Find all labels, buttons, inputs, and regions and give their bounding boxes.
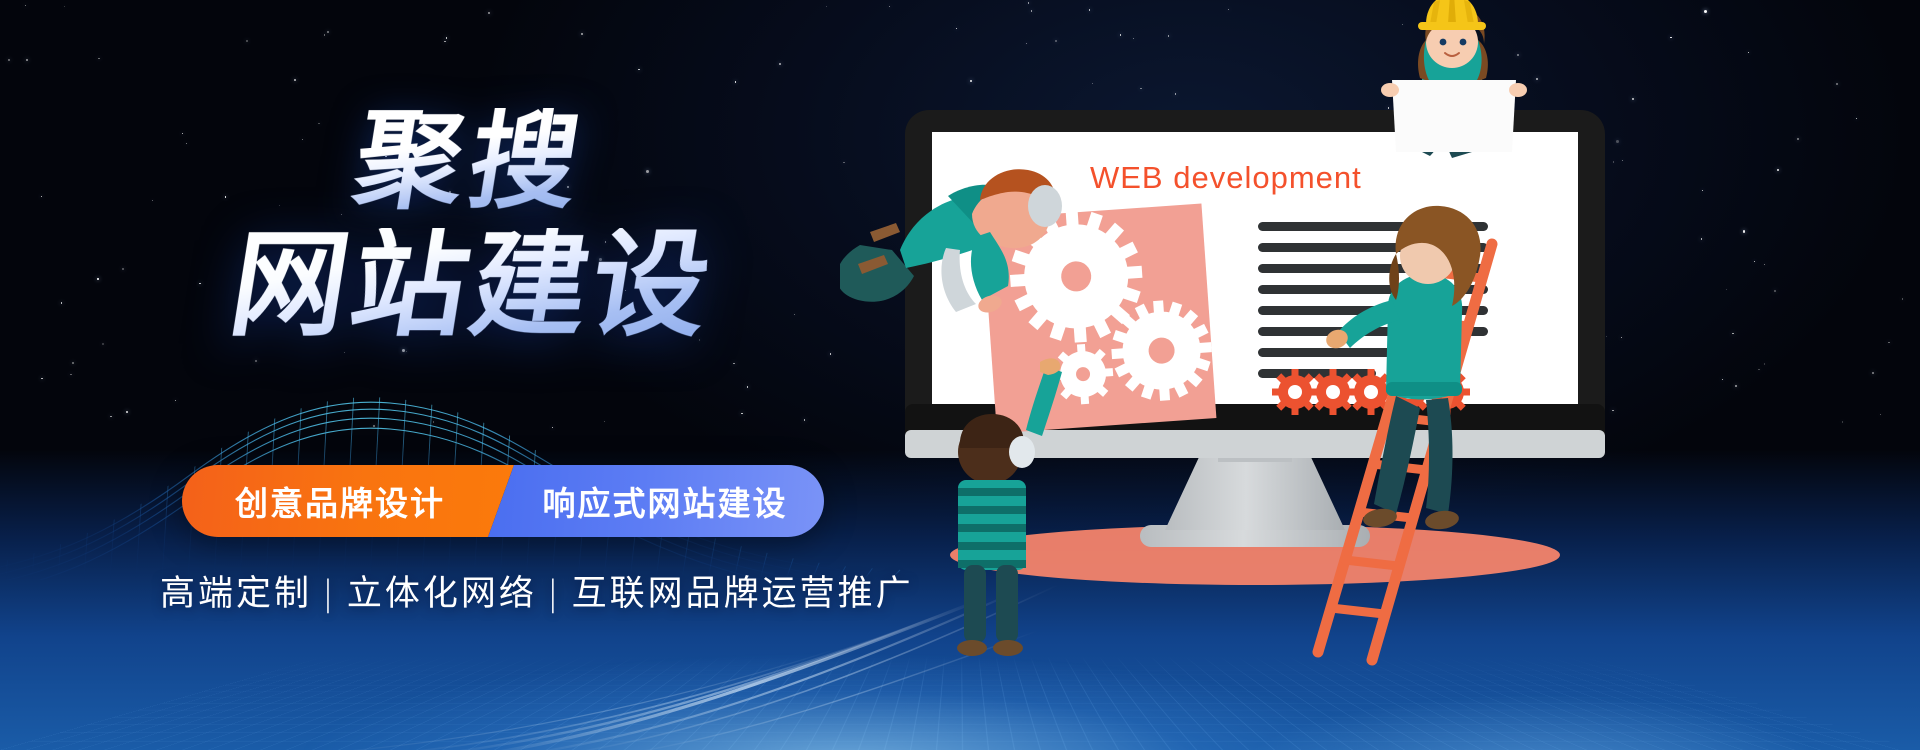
child-leg-left — [964, 565, 986, 643]
screen-title: WEB development — [1090, 160, 1362, 195]
child-leg-right — [996, 565, 1018, 643]
tagline-separator-1: | — [312, 574, 347, 614]
figure-engineer-top — [1381, 0, 1527, 158]
copy-block: 聚搜 网站建设 创意品牌设计 响应式网站建设 高端定制|立体化网络|互联网品牌运… — [0, 0, 880, 750]
pill-responsive-site-label: 响应式网站建设 — [543, 477, 788, 525]
tagline-part-3: 互联网品牌运营推广 — [572, 574, 914, 614]
monitor-neck — [1165, 455, 1345, 530]
tagline-part-1: 高端定制 — [160, 574, 312, 614]
feature-pills: 创意品牌设计 响应式网站建设 — [182, 465, 830, 537]
hero-banner: 聚搜 网站建设 创意品牌设计 响应式网站建设 高端定制|立体化网络|互联网品牌运… — [0, 0, 1920, 750]
pill-brand-design-label: 创意品牌设计 — [235, 477, 445, 525]
child-body — [958, 480, 1026, 570]
tagline-separator-2: | — [537, 574, 572, 614]
illustration-monitor-scene: WEB development — [840, 0, 1920, 750]
tagline-part-2: 立体化网络 — [347, 574, 537, 614]
pill-responsive-site[interactable]: 响应式网站建设 — [488, 465, 824, 537]
tagline: 高端定制|立体化网络|互联网品牌运营推广 — [160, 565, 914, 616]
blueprint-sheet — [1392, 80, 1516, 152]
page-title: 聚搜 — [347, 108, 592, 216]
pill-brand-design[interactable]: 创意品牌设计 — [182, 465, 514, 537]
page-subtitle: 网站建设 — [223, 228, 721, 344]
hard-hat-icon — [1418, 0, 1486, 30]
